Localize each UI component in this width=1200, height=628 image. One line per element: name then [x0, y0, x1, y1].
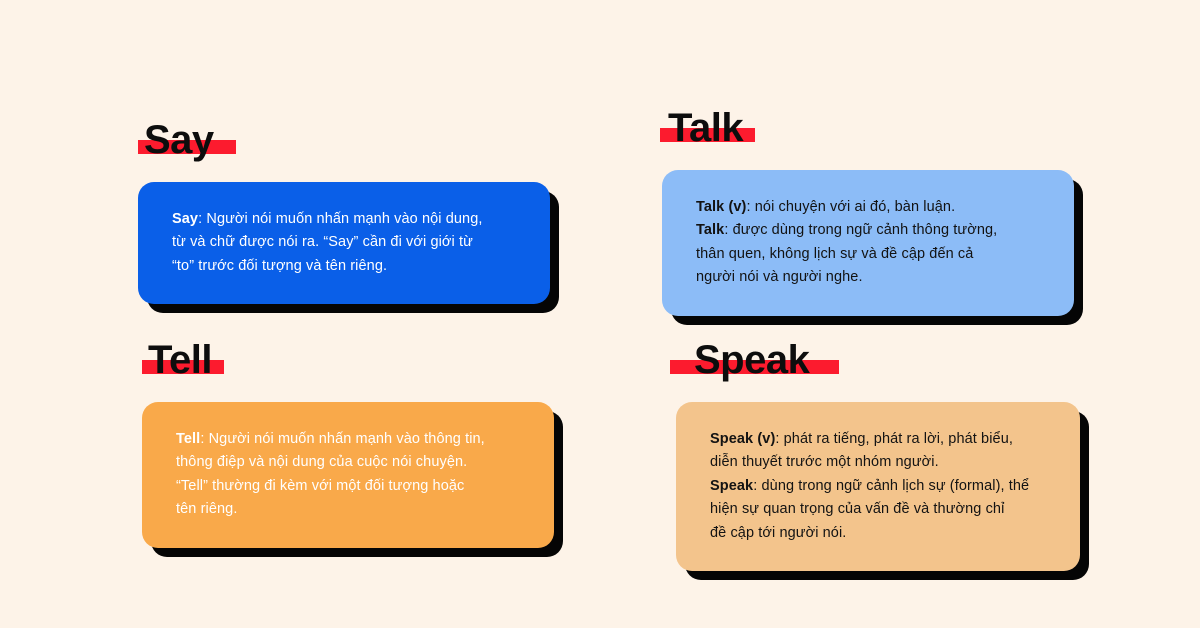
card-group-say: Say Say: Người nói muốn nhấn mạnh vào nộ…: [138, 120, 550, 304]
definition-text-speak: Speak (v): phát ra tiếng, phát ra lời, p…: [710, 428, 1050, 545]
definition-term: Speak: [710, 478, 753, 494]
definition-term: Talk: [696, 222, 724, 238]
definition-text-talk: Talk (v): nói chuyện với ai đó, bàn luận…: [696, 196, 1044, 290]
card-group-tell: Tell Tell: Người nói muốn nhấn mạnh vào …: [142, 340, 554, 548]
definition-line: Speak: dùng trong ngữ cảnh lịch sự (form…: [710, 475, 1050, 498]
definition-term: Talk (v): [696, 199, 747, 215]
definition-card-tell: Tell: Người nói muốn nhấn mạnh vào thông…: [142, 402, 554, 548]
heading-label: Tell: [148, 340, 212, 380]
heading-say: Say: [144, 120, 218, 160]
definition-card-talk: Talk (v): nói chuyện với ai đó, bàn luận…: [662, 170, 1074, 316]
definition-line: Tell: Người nói muốn nhấn mạnh vào thông…: [176, 428, 524, 451]
heading-label: Say: [144, 120, 214, 160]
definition-line: từ và chữ được nói ra. “Say” cần đi với …: [172, 231, 520, 254]
definition-line: “to” trước đối tượng và tên riêng.: [172, 255, 520, 278]
definition-card-say: Say: Người nói muốn nhấn mạnh vào nội du…: [138, 182, 550, 304]
definition-line: Talk (v): nói chuyện với ai đó, bàn luận…: [696, 196, 1044, 219]
heading-tell: Tell: [148, 340, 216, 380]
definition-term: Say: [172, 211, 198, 227]
definition-term: Tell: [176, 431, 200, 447]
definition-text-say: Say: Người nói muốn nhấn mạnh vào nội du…: [172, 208, 520, 278]
definition-line: thông điệp và nội dung của cuộc nói chuy…: [176, 451, 524, 474]
definition-line: Say: Người nói muốn nhấn mạnh vào nội du…: [172, 208, 520, 231]
heading-label: Speak: [694, 340, 809, 380]
definition-line: đề cập tới người nói.: [710, 522, 1050, 545]
definition-line: Speak (v): phát ra tiếng, phát ra lời, p…: [710, 428, 1050, 451]
definition-line: người nói và người nghe.: [696, 266, 1044, 289]
card-grid: Say Say: Người nói muốn nhấn mạnh vào nộ…: [0, 0, 1200, 628]
definition-term: Speak (v): [710, 431, 775, 447]
definition-line: diễn thuyết trước một nhóm người.: [710, 451, 1050, 474]
card-group-speak: Speak Speak (v): phát ra tiếng, phát ra …: [676, 340, 1086, 571]
definition-line: Talk: được dùng trong ngữ cảnh thông tườ…: [696, 219, 1044, 242]
definition-line: thân quen, không lịch sự và đề cập đến c…: [696, 243, 1044, 266]
card-group-talk: Talk Talk (v): nói chuyện với ai đó, bàn…: [662, 108, 1074, 316]
definition-line: tên riêng.: [176, 498, 524, 521]
definition-line: “Tell” thường đi kèm với một đối tượng h…: [176, 475, 524, 498]
definition-card-speak: Speak (v): phát ra tiếng, phát ra lời, p…: [676, 402, 1080, 571]
heading-speak: Speak: [694, 340, 813, 380]
definition-line: hiện sự quan trọng của vấn đề và thường …: [710, 498, 1050, 521]
definition-text-tell: Tell: Người nói muốn nhấn mạnh vào thông…: [176, 428, 524, 522]
infographic-canvas: Say Say: Người nói muốn nhấn mạnh vào nộ…: [0, 0, 1200, 628]
heading-talk: Talk: [668, 108, 747, 148]
heading-label: Talk: [668, 108, 743, 148]
